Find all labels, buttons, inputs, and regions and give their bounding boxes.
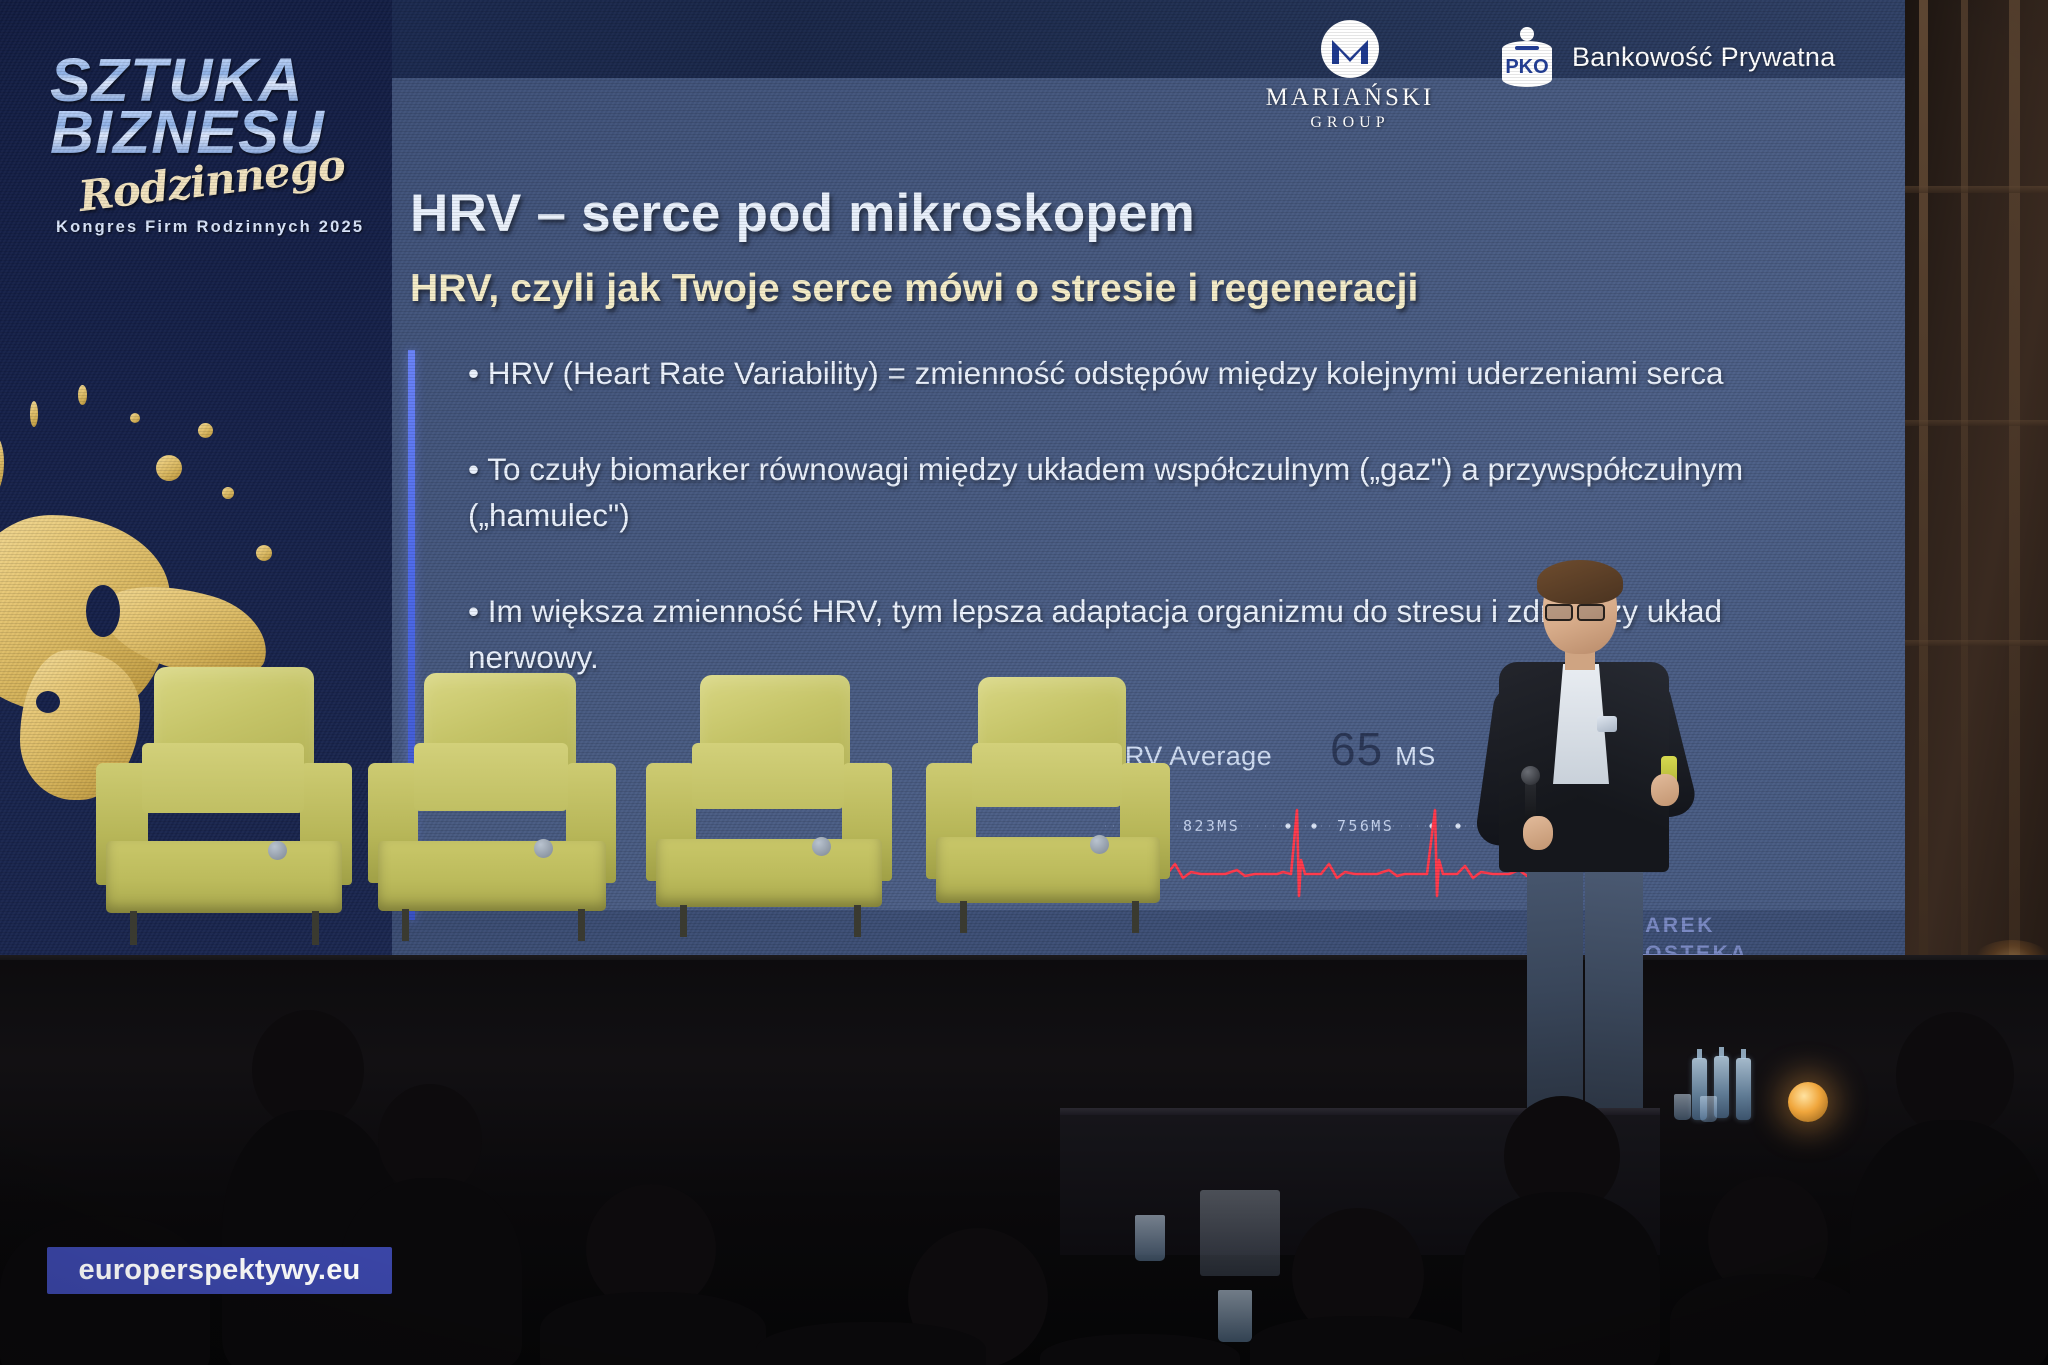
- watermark-banner: europerspektywy.eu: [47, 1247, 392, 1294]
- drinking-glass: [1700, 1096, 1717, 1122]
- event-logo-line2: BIZNESU: [50, 104, 370, 160]
- stage-lamp: [1788, 1082, 1828, 1122]
- event-logo-tagline: Kongres Firm Rodzinnych 2025: [56, 218, 364, 237]
- sponsor-marianski-line2: GROUP: [1255, 114, 1445, 132]
- photo-scene: SZTUKA BIZNESU Rodzinnego Kongres Firm R…: [0, 0, 2048, 1365]
- hrv-value: 65: [1330, 726, 1383, 772]
- bullet-item: • HRV (Heart Rate Variability) = zmienno…: [468, 351, 1798, 397]
- slide-subtitle: HRV, czyli jak Twoje serce mówi o stresi…: [410, 267, 1418, 311]
- audience-silhouette: [540, 1292, 766, 1365]
- sponsor-marianski-line1: MARIAŃSKI: [1255, 84, 1445, 112]
- drinking-glass: [1135, 1215, 1165, 1261]
- ecg-interval-label: 823MS: [1183, 817, 1240, 835]
- audience-silhouette: [1850, 1120, 2048, 1365]
- sponsor-logo-pko: PKO Bankowość Prywatna: [1498, 26, 1836, 88]
- audience-silhouette: [1250, 1316, 1470, 1365]
- hrv-unit: MS: [1395, 741, 1436, 772]
- stage-armchair: [916, 745, 1181, 935]
- drinking-glass: [1218, 1290, 1252, 1342]
- svg-text:PKO: PKO: [1505, 56, 1548, 78]
- audience-silhouette: [756, 1322, 986, 1365]
- sponsor-logo-marianski: MARIAŃSKI GROUP: [1255, 18, 1445, 132]
- m-circle-icon: [1319, 18, 1381, 80]
- stage-armchair: [358, 745, 628, 941]
- trophy-award: [1200, 1190, 1280, 1276]
- audience-silhouette: [1462, 1192, 1660, 1365]
- speaker-person: [1485, 566, 1685, 1166]
- audience-silhouette: [1670, 1274, 1866, 1365]
- venue-right-wall: [1905, 0, 2048, 1010]
- ecg-interval-label: 756MS: [1337, 817, 1394, 835]
- bullet-item: • To czuły biomarker równowagi między uk…: [468, 447, 1798, 539]
- stage-armchair: [82, 745, 362, 945]
- sponsor-pko-label: Bankowość Prywatna: [1572, 42, 1836, 73]
- drinking-glass: [1674, 1094, 1691, 1120]
- stage-armchair: [636, 745, 904, 937]
- slide-title: HRV – serce pod mikroskopem: [410, 183, 1195, 244]
- pko-icon: PKO: [1498, 26, 1556, 88]
- water-bottle: [1736, 1058, 1751, 1120]
- event-logo-script: Rodzinnego: [76, 140, 347, 221]
- event-logo: SZTUKA BIZNESU Rodzinnego Kongres Firm R…: [50, 52, 370, 160]
- event-logo-line1: SZTUKA: [50, 52, 370, 108]
- watermark-url: europerspektywy.eu: [79, 1254, 361, 1287]
